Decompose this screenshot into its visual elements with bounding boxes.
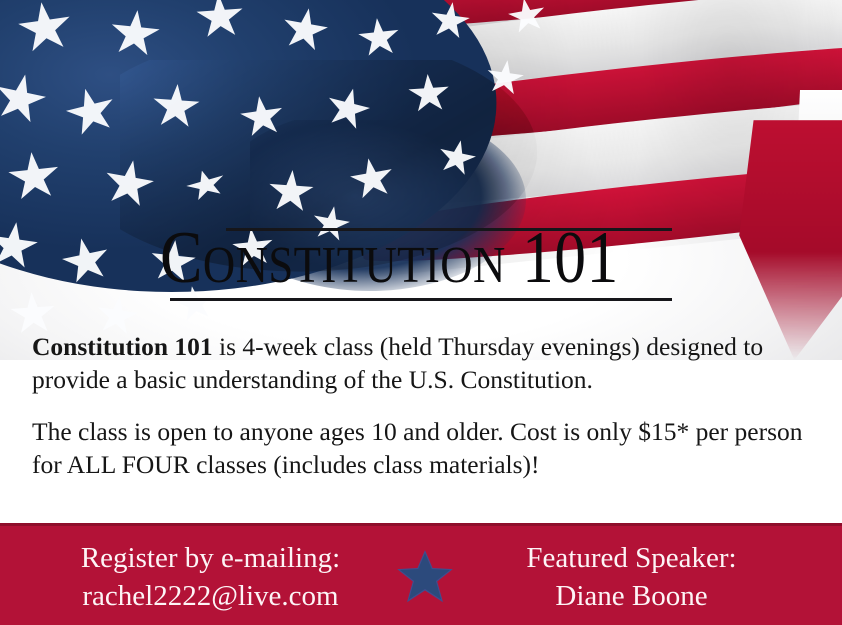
register-email[interactable]: rachel2222@live.com [10,577,411,615]
paragraph-2: The class is open to anyone ages 10 and … [32,415,822,481]
paragraph-1-lead: Constitution 101 [32,332,213,361]
register-label: Register by e-mailing: [10,539,411,577]
register-block: Register by e-mailing: rachel2222@live.c… [0,539,421,615]
page-title: Constitution 101 [160,218,642,298]
title-rule-bottom [170,298,672,301]
speaker-label: Featured Speaker: [431,539,832,577]
speaker-name: Diane Boone [431,577,832,615]
speaker-block: Featured Speaker: Diane Boone [421,539,842,615]
title-block: Constitution 101 [0,212,842,322]
body-copy: Constitution 101 is 4-week class (held T… [32,330,822,481]
paragraph-2-text: The class is open to anyone ages 10 and … [32,417,803,479]
poster: Constitution 101 Constitution 101 is 4-w… [0,0,842,625]
paragraph-1: Constitution 101 is 4-week class (held T… [32,330,822,396]
